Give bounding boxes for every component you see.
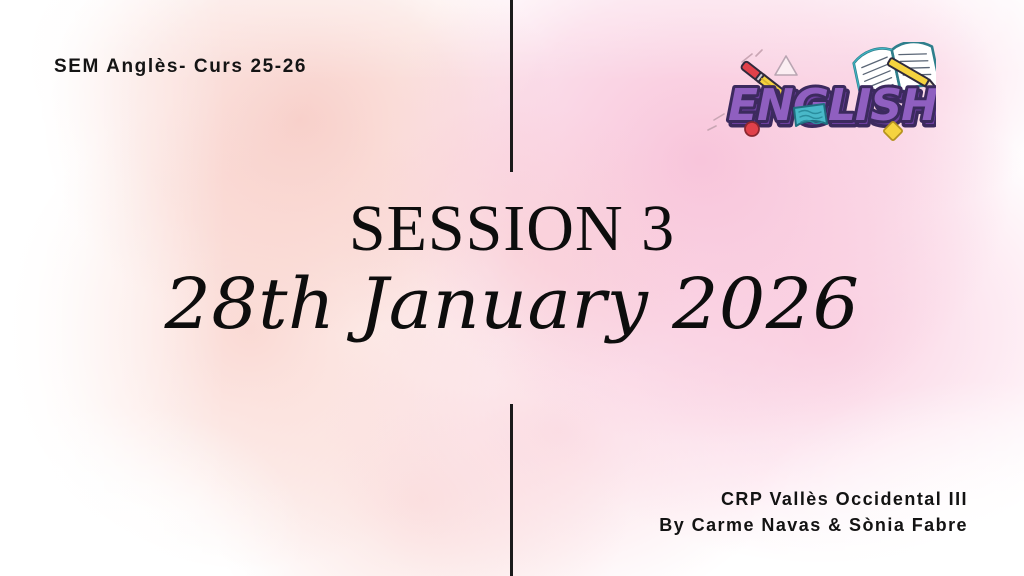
- credits-authors: By Carme Navas & Sònia Fabre: [659, 512, 968, 538]
- slide-canvas: SEM Anglès- Curs 25-26 SESSION 3 28th Ja…: [0, 0, 1024, 576]
- session-title: SESSION 3: [0, 196, 1024, 262]
- svg-text:ENGLISH: ENGLISH: [728, 80, 936, 131]
- red-dot-icon: [745, 122, 759, 136]
- credits-block: CRP Vallès Occidental III By Carme Navas…: [659, 486, 968, 538]
- credits-organization: CRP Vallès Occidental III: [659, 486, 968, 512]
- white-triangle-icon: [775, 56, 797, 75]
- divider-line-bottom: [510, 404, 513, 576]
- english-sticker: ENGLISH ENGLISH: [698, 42, 936, 150]
- date-title: 28th January 2026: [0, 268, 1024, 342]
- divider-line-top: [510, 0, 513, 172]
- title-block: SESSION 3 28th January 2026: [0, 196, 1024, 342]
- course-label: SEM Anglès- Curs 25-26: [54, 56, 307, 78]
